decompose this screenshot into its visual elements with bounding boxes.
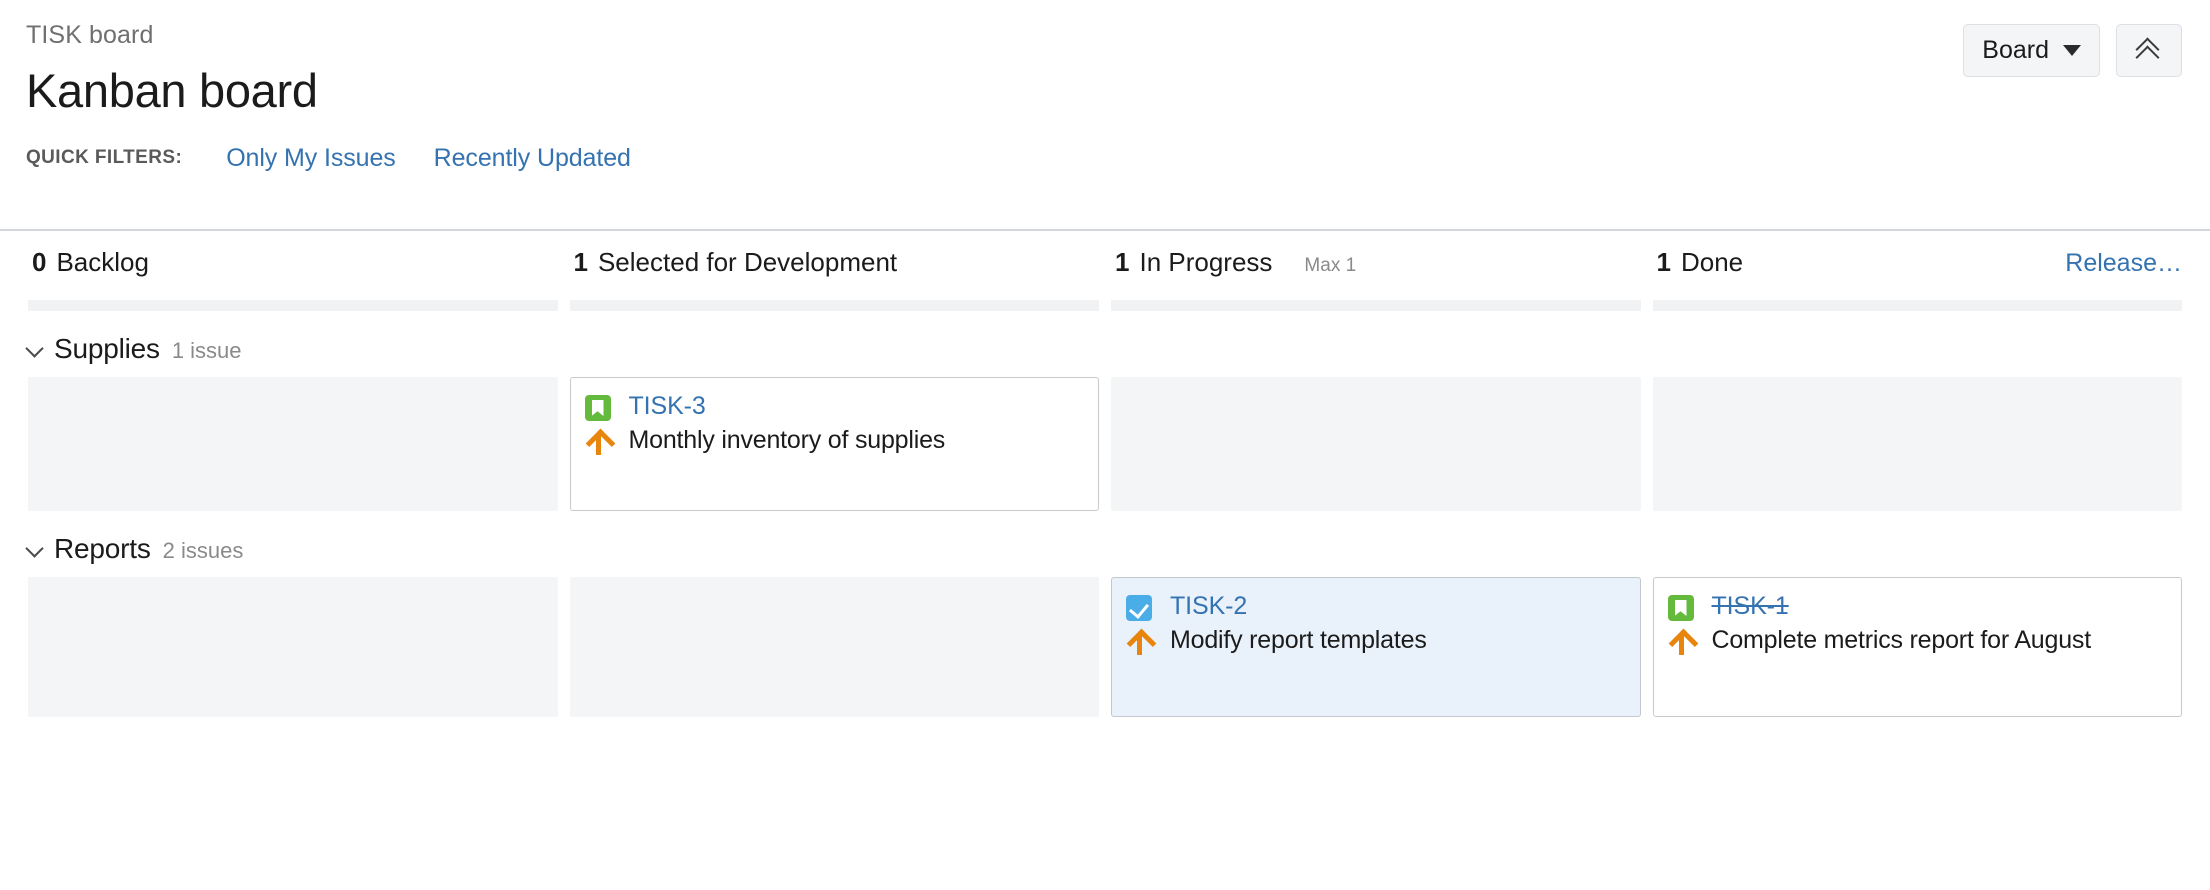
empty-cell: [28, 377, 558, 511]
swimlane-header[interactable]: Supplies 1 issue: [22, 311, 2188, 377]
column-count: 0: [32, 247, 46, 278]
board-column-headers: 0 Backlog 1 Selected for Development 1 I…: [0, 247, 2210, 311]
empty-cell: [570, 577, 1100, 717]
header-controls: Board: [1963, 24, 2182, 77]
column-name: Done: [1681, 247, 1743, 278]
issue-summary: Complete metrics report for August: [1712, 625, 2091, 656]
priority-major-up-arrow-icon: [1126, 627, 1152, 657]
release-link[interactable]: Release…: [2065, 249, 2182, 278]
breadcrumb[interactable]: TISK board: [26, 22, 2182, 50]
lane-cell-done[interactable]: TISK-1 Complete metrics report for Augus…: [1647, 577, 2189, 717]
priority-major-up-arrow-icon: [1668, 627, 1694, 657]
board-header: TISK board Kanban board QUICK FILTERS: O…: [0, 0, 2210, 231]
swimlane-issue-count: 2 issues: [163, 538, 244, 564]
quick-filter-only-my-issues[interactable]: Only My Issues: [226, 144, 395, 173]
lane-cell-backlog[interactable]: [22, 377, 564, 511]
column-count: 1: [1115, 247, 1129, 278]
priority-major-up-arrow-icon: [585, 427, 611, 457]
issue-summary: Monthly inventory of supplies: [629, 425, 946, 456]
swimlane-supplies: Supplies 1 issue TISK-3 Monthl: [22, 311, 2188, 511]
board-dropdown-label: Board: [1982, 36, 2049, 65]
column-count: 1: [1657, 247, 1671, 278]
swimlane-reports: Reports 2 issues TISK-2: [22, 511, 2188, 717]
swimlane-list: Supplies 1 issue TISK-3 Monthl: [0, 311, 2210, 717]
task-issue-type-icon: [1126, 595, 1152, 621]
quick-filters-label: QUICK FILTERS:: [26, 147, 182, 169]
chevron-down-icon: [2063, 45, 2081, 56]
lane-cell-selected-for-development[interactable]: TISK-3 Monthly inventory of supplies: [564, 377, 1106, 511]
story-issue-type-icon: [1668, 595, 1694, 621]
column-count: 1: [574, 247, 588, 278]
empty-cell: [28, 577, 558, 717]
board-dropdown-button[interactable]: Board: [1963, 24, 2100, 77]
column-header-backlog: 0 Backlog: [22, 247, 564, 311]
swimlane-row: TISK-2 Modify report templates TISK-1: [22, 577, 2188, 717]
lane-cell-selected-for-development[interactable]: [564, 577, 1106, 717]
issue-card-tisk-3[interactable]: TISK-3 Monthly inventory of supplies: [570, 377, 1100, 511]
quick-filter-recently-updated[interactable]: Recently Updated: [434, 144, 631, 173]
issue-summary: Modify report templates: [1170, 625, 1427, 656]
lane-cell-done[interactable]: [1647, 377, 2189, 511]
quick-filters-bar: QUICK FILTERS: Only My Issues Recently U…: [26, 144, 2182, 173]
issue-key-link[interactable]: TISK-2: [1170, 592, 1247, 622]
column-strip: [28, 300, 558, 311]
issue-key-link[interactable]: TISK-1: [1712, 592, 1789, 622]
column-name: Selected for Development: [598, 247, 897, 278]
chevron-down-icon[interactable]: [26, 540, 44, 558]
column-name: Backlog: [56, 247, 149, 278]
issue-card-tisk-2[interactable]: TISK-2 Modify report templates: [1111, 577, 1641, 717]
lane-cell-in-progress[interactable]: [1105, 377, 1647, 511]
empty-cell: [1653, 377, 2183, 511]
page-title: Kanban board: [26, 64, 2182, 118]
double-chevron-up-icon: [2136, 40, 2162, 62]
swimlane-header[interactable]: Reports 2 issues: [22, 511, 2188, 577]
swimlane-title: Reports: [54, 533, 151, 565]
column-header-in-progress: 1 In Progress Max 1: [1105, 247, 1647, 311]
story-issue-type-icon: [585, 395, 611, 421]
column-strip: [1653, 300, 2183, 311]
column-header-done: 1 Done Release…: [1647, 247, 2189, 311]
column-header-selected-for-development: 1 Selected for Development: [564, 247, 1106, 311]
column-name: In Progress: [1139, 247, 1272, 278]
collapse-header-button[interactable]: [2116, 24, 2182, 77]
chevron-down-icon[interactable]: [26, 340, 44, 358]
lane-cell-backlog[interactable]: [22, 577, 564, 717]
issue-key-link[interactable]: TISK-3: [629, 392, 706, 422]
swimlane-issue-count: 1 issue: [172, 338, 242, 364]
column-strip: [1111, 300, 1641, 311]
empty-cell: [1111, 377, 1641, 511]
swimlane-row: TISK-3 Monthly inventory of supplies: [22, 377, 2188, 511]
column-strip: [570, 300, 1100, 311]
kanban-board-page: TISK board Kanban board QUICK FILTERS: O…: [0, 0, 2210, 890]
lane-cell-in-progress[interactable]: TISK-2 Modify report templates: [1105, 577, 1647, 717]
issue-card-tisk-1[interactable]: TISK-1 Complete metrics report for Augus…: [1653, 577, 2183, 717]
column-max-constraint: Max 1: [1304, 255, 1356, 277]
swimlane-title: Supplies: [54, 333, 160, 365]
